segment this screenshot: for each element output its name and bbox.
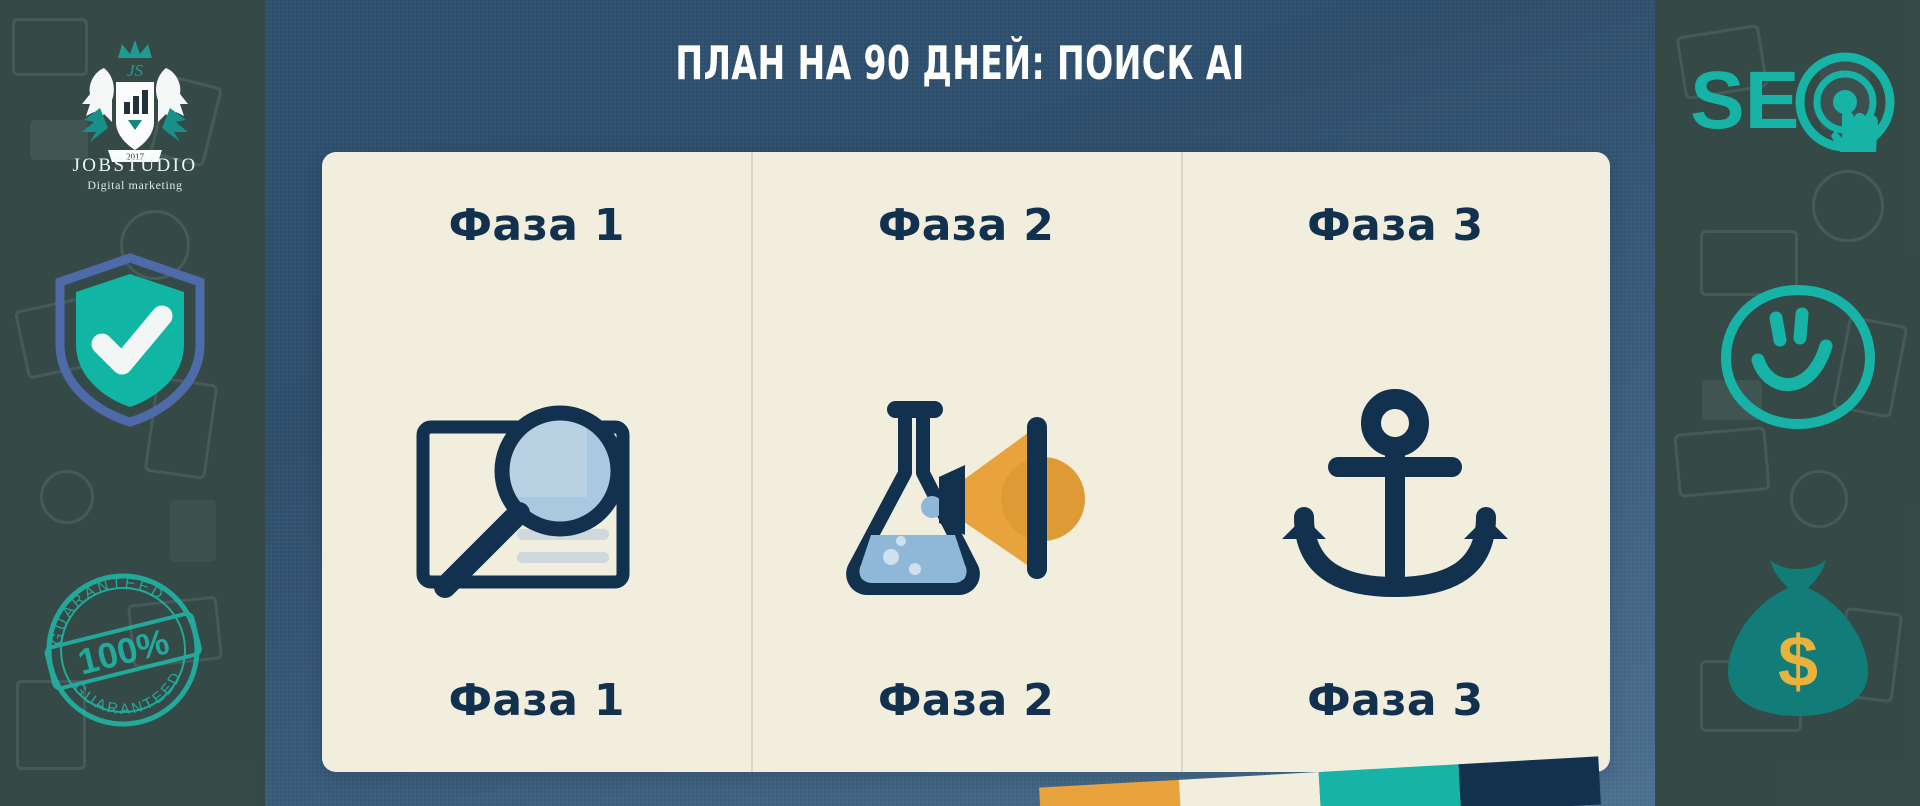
svg-text:$: $ (1778, 622, 1818, 702)
phase-card-deck: Фаза 1 Фа (322, 152, 1610, 772)
phase-card-2-footer: Фаза 2 (878, 675, 1054, 726)
slide-canvas: ПЛАН НА 90 ДНЕЙ: ПОИСК AI Фаза 1 (0, 0, 1920, 806)
ribbon-segment-navy (1458, 756, 1600, 806)
ribbon-segment-teal (1319, 764, 1461, 806)
flask-megaphone-icon (761, 251, 1170, 742)
phase-card-3-footer: Фаза 3 (1307, 675, 1483, 726)
guaranteed-stamp-icon: 100% GUARANTEED GUARANTEED (28, 560, 218, 740)
seo-click-cursor-icon: SE (1690, 52, 1905, 152)
brand-name: JOBSTUDIO (30, 155, 240, 177)
slide-panel: ПЛАН НА 90 ДНЕЙ: ПОИСК AI Фаза 1 (265, 0, 1655, 806)
phase-card-2[interactable]: Фаза 2 (751, 152, 1180, 772)
magnifying-glass-document-icon (332, 251, 741, 742)
anchor-icon (1191, 251, 1600, 742)
phase-card-1[interactable]: Фаза 1 Фа (322, 152, 751, 772)
seo-text: SE (1690, 55, 1799, 146)
phase-card-1-title: Фаза 1 (449, 200, 625, 251)
phase-card-3[interactable]: Фаза 3 Фаза 3 (1181, 152, 1610, 772)
heraldic-crest-icon: JS 2017 (60, 34, 210, 169)
phase-card-3-title: Фаза 3 (1307, 200, 1483, 251)
phase-card-2-title: Фаза 2 (878, 200, 1054, 251)
shield-check-icon (50, 252, 210, 427)
svg-text:JS: JS (127, 61, 144, 80)
money-bag-icon: $ (1718, 550, 1878, 720)
page-title: ПЛАН НА 90 ДНЕЙ: ПОИСК AI (404, 36, 1516, 90)
smiley-face-icon (1718, 282, 1878, 432)
brand-tagline: Digital marketing (30, 178, 240, 193)
phase-card-1-footer: Фаза 1 (448, 675, 624, 726)
